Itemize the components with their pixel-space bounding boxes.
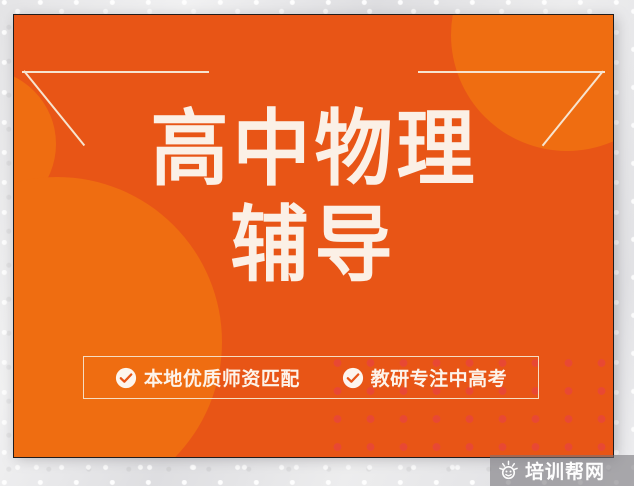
site-watermark-label: 培训帮网 (525, 457, 605, 484)
feature-badge-strip: 本地优质师资匹配 教研专注中高考 (83, 356, 539, 399)
feature-badge-2-label: 教研专注中高考 (371, 364, 508, 391)
page-backdrop: 高中物理 辅导 本地优质师资匹配 教研专注中高考 (0, 0, 634, 486)
headline-line-primary: 高中物理 (14, 109, 614, 192)
poster-headline: 高中物理 辅导 (14, 111, 614, 285)
sun-face-icon (498, 460, 519, 481)
decorative-rule-left (22, 71, 209, 73)
feature-badge-1: 本地优质师资匹配 (115, 364, 300, 391)
check-circle-icon (342, 367, 364, 389)
decorative-rule-right (418, 71, 605, 73)
feature-badge-1-label: 本地优质师资匹配 (144, 364, 300, 391)
site-watermark: 培训帮网 (490, 455, 634, 486)
headline-line-secondary: 辅导 (14, 205, 614, 288)
feature-badge-2: 教研专注中高考 (342, 364, 508, 391)
promo-poster-card: 高中物理 辅导 本地优质师资匹配 教研专注中高考 (13, 14, 614, 458)
check-circle-icon (115, 367, 137, 389)
